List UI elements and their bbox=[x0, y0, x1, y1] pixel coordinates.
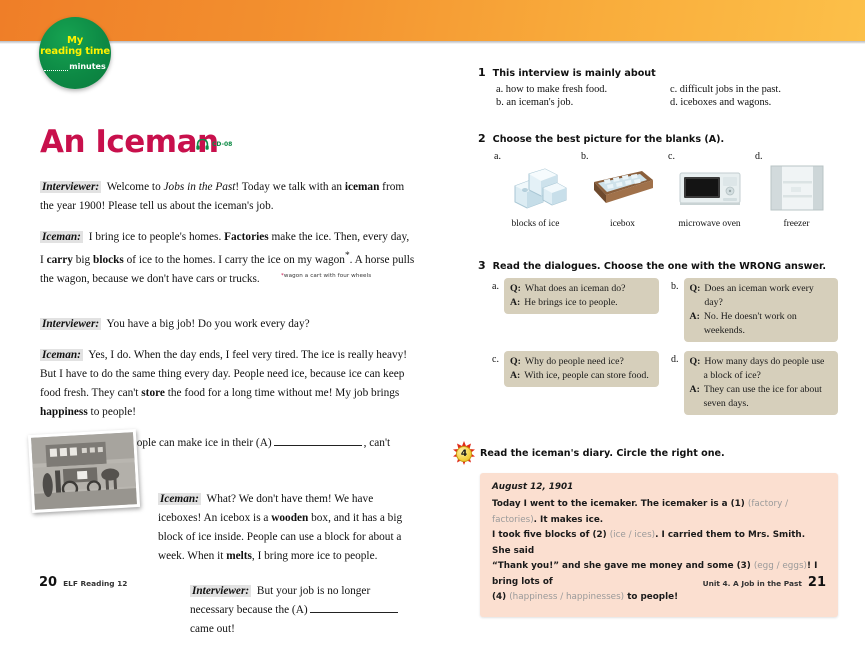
picture-option-a[interactable]: a. blocks of ice bbox=[494, 151, 577, 229]
question-2-picture-options: a. blocks of ice bbox=[494, 151, 838, 229]
dialogue-option-d[interactable]: d. Q: How many days do people use a bloc… bbox=[671, 351, 838, 415]
question-4-prompt: Read the iceman's diary. Circle the righ… bbox=[480, 448, 725, 459]
dialogue-paragraph: Iceman: What? We don't have them! We hav… bbox=[158, 490, 415, 566]
header-orange-band bbox=[0, 0, 865, 41]
question-3-header: 3 Read the dialogues. Choose the one wit… bbox=[478, 259, 838, 272]
a-tag: A: bbox=[690, 383, 700, 397]
reading-time-badge: My reading time minutes bbox=[39, 17, 111, 89]
dialogue-question-line: Q: What does an iceman do? bbox=[510, 282, 653, 296]
footnote-text: wagon a cart with four wheels bbox=[284, 273, 371, 279]
question-1: 1 This interview is mainly about a. how … bbox=[478, 66, 838, 108]
picture-letter-a: a. bbox=[494, 151, 577, 162]
question-1-options: a. how to make fresh food. c. difficult … bbox=[496, 84, 838, 108]
minutes-write-in-line[interactable] bbox=[44, 64, 68, 71]
icebox-icon bbox=[581, 164, 664, 212]
picture-letter-d: d. bbox=[755, 151, 838, 162]
badge-minutes-row: minutes bbox=[44, 62, 105, 71]
question-4-header: 4 Read the iceman's diary. Circle the ri… bbox=[452, 441, 838, 465]
diary-text: “Thank you!” and she gave me money and s… bbox=[492, 561, 754, 571]
dialogue-paragraph: Interviewer: Welcome to Jobs in the Past… bbox=[40, 178, 415, 216]
dialogue-answer-line: A: He brings ice to people. bbox=[510, 296, 653, 310]
badge-title: My reading time bbox=[40, 35, 110, 57]
question-1-prompt: This interview is mainly about bbox=[493, 68, 656, 79]
question-4-number: 4 bbox=[456, 446, 472, 462]
iceman-diary: August 12, 1901 Today I went to the icem… bbox=[480, 473, 838, 617]
question-3: 3 Read the dialogues. Choose the one wit… bbox=[478, 259, 838, 415]
option-c[interactable]: c. difficult jobs in the past. bbox=[670, 84, 838, 95]
a-text: They can use the ice for about bbox=[704, 383, 822, 397]
speaker-label: Interviewer: bbox=[190, 585, 251, 597]
dialogue-letter-b: b. bbox=[671, 278, 679, 292]
badge-line-2: reading time bbox=[40, 46, 110, 57]
picture-letter-b: b. bbox=[581, 151, 664, 162]
question-1-header: 1 This interview is mainly about bbox=[478, 66, 838, 79]
a-tag: A: bbox=[690, 310, 700, 338]
footer-right: Unit 4. A Job in the Past 21 bbox=[703, 575, 826, 590]
question-2-header: 2 Choose the best picture for the blanks… bbox=[478, 132, 838, 145]
dialogue-option-b[interactable]: b. Q: Does an iceman work every day? A: … bbox=[671, 278, 838, 342]
answer-blank-a1[interactable] bbox=[274, 445, 362, 446]
a-tag: A: bbox=[510, 369, 520, 383]
diary-text: . It makes ice. bbox=[534, 515, 603, 525]
diary-text: (4) bbox=[492, 592, 509, 602]
horse-drawn-ice-wagon-image bbox=[31, 432, 137, 510]
header-divider-rule bbox=[0, 41, 865, 44]
q-text: Why do people need ice? bbox=[525, 355, 624, 369]
dialogue-question-line: Q: How many days do people use bbox=[690, 355, 833, 369]
dialogue-box-a[interactable]: Q: What does an iceman do? A: He brings … bbox=[504, 278, 659, 314]
article-title: An Iceman bbox=[40, 124, 219, 160]
dialogue-answer-line: A: No. He doesn't work on weekends. bbox=[690, 310, 833, 338]
dialogue-option-c[interactable]: c. Q: Why do people need ice? A: With ic… bbox=[492, 351, 659, 415]
dialogue-box-d[interactable]: Q: How many days do people use a block o… bbox=[684, 351, 839, 415]
a-text: With ice, people can store food. bbox=[524, 369, 648, 383]
q-tag: Q: bbox=[510, 282, 521, 296]
diary-text: I took five blocks of (2) bbox=[492, 530, 610, 540]
option-a[interactable]: a. how to make fresh food. bbox=[496, 84, 664, 95]
q-tag: Q: bbox=[510, 355, 521, 369]
picture-caption-a: blocks of ice bbox=[494, 219, 577, 229]
speaker-label: Iceman: bbox=[40, 349, 83, 361]
picture-caption-b: icebox bbox=[581, 219, 664, 229]
speaker-label: Interviewer: bbox=[40, 318, 101, 330]
question-3-number: 3 bbox=[478, 259, 486, 272]
diary-date: August 12, 1901 bbox=[492, 482, 826, 492]
option-d[interactable]: d. iceboxes and wagons. bbox=[670, 97, 838, 108]
picture-option-d[interactable]: d. freezer bbox=[755, 151, 838, 229]
q-tag: Q: bbox=[690, 355, 701, 369]
dialogue-paragraph: Interviewer: You have a big job! Do you … bbox=[40, 315, 415, 334]
microwave-oven-icon bbox=[668, 164, 751, 212]
minutes-label: minutes bbox=[69, 62, 105, 71]
question-2-prompt: Choose the best picture for the blanks (… bbox=[493, 134, 725, 145]
page-number-right: 21 bbox=[808, 575, 826, 590]
a-text: He brings ice to people. bbox=[524, 296, 617, 310]
dialogue-letter-d: d. bbox=[671, 351, 679, 365]
diary-text: to people! bbox=[624, 592, 678, 602]
option-b[interactable]: b. an iceman's job. bbox=[496, 97, 664, 108]
speaker-label: Interviewer: bbox=[40, 181, 101, 193]
picture-option-c[interactable]: c. microwave oven bbox=[668, 151, 751, 229]
freezer-icon bbox=[755, 164, 838, 212]
dialogue-question-line: Q: Does an iceman work every day? bbox=[690, 282, 833, 310]
dialogue-paragraph: Iceman: I bring ice to people's homes. F… bbox=[40, 228, 415, 289]
audio-track-label: CD-08 bbox=[212, 141, 232, 148]
question-2: 2 Choose the best picture for the blanks… bbox=[478, 132, 838, 229]
question-3-prompt: Read the dialogues. Choose the one with … bbox=[493, 261, 826, 272]
question-4: 4 Read the iceman's diary. Circle the ri… bbox=[452, 441, 838, 617]
dialogue-answer-line: A: They can use the ice for about bbox=[690, 383, 833, 397]
diary-choice-2[interactable]: (ice / ices) bbox=[610, 530, 655, 540]
diary-line: (4) (happiness / happinesses) to people! bbox=[492, 590, 826, 606]
dialogue-box-c[interactable]: Q: Why do people need ice? A: With ice, … bbox=[504, 351, 659, 387]
dialogue-letter-a: a. bbox=[492, 278, 499, 292]
dialogue-question-line: Q: Why do people need ice? bbox=[510, 355, 653, 369]
diary-text: Today I went to the icemaker. The icemak… bbox=[492, 499, 748, 509]
q-text-continued: a block of ice? bbox=[690, 369, 833, 383]
dialogue-box-b[interactable]: Q: Does an iceman work every day? A: No.… bbox=[684, 278, 839, 342]
picture-caption-d: freezer bbox=[755, 219, 838, 229]
dialogue-paragraph: Iceman: Yes, I do. When the day ends, I … bbox=[40, 346, 415, 422]
diary-line: I took five blocks of (2) (ice / ices). … bbox=[492, 528, 826, 559]
question-3-dialogues: a. Q: What does an iceman do? A: He brin… bbox=[492, 278, 838, 415]
q-text: What does an iceman do? bbox=[525, 282, 626, 296]
picture-letter-c: c. bbox=[668, 151, 751, 162]
a-text-continued: seven days. bbox=[690, 397, 833, 411]
dialogue-letter-c: c. bbox=[492, 351, 499, 365]
q-text: How many days do people use bbox=[704, 355, 824, 369]
speaker-label: Iceman: bbox=[158, 493, 201, 505]
speaker-label: Iceman: bbox=[40, 231, 83, 243]
dialogue-answer-line: A: With ice, people can store food. bbox=[510, 369, 653, 383]
question-1-number: 1 bbox=[478, 66, 486, 79]
diary-line: Today I went to the icemaker. The icemak… bbox=[492, 497, 826, 528]
audio-track-tag: CD-08 bbox=[196, 139, 232, 150]
jump-badge: 4 bbox=[452, 441, 476, 465]
exercises-column: 1 This interview is mainly about a. how … bbox=[478, 66, 838, 635]
photo-image bbox=[31, 432, 137, 510]
ice-wagon-photo bbox=[28, 429, 140, 513]
dialogue-paragraph-blank-a: Interviewer: But your job is no longer n… bbox=[190, 582, 415, 639]
footer-left: 20 ELF Reading 12 bbox=[39, 575, 127, 590]
ice-cubes-icon bbox=[494, 164, 577, 212]
badge-line-1: My bbox=[40, 35, 110, 46]
q-tag: Q: bbox=[690, 282, 701, 310]
diary-choice-4[interactable]: (happiness / happinesses) bbox=[509, 592, 624, 602]
a-tag: A: bbox=[510, 296, 520, 310]
a-text: No. He doesn't work on weekends. bbox=[704, 310, 832, 338]
headphones-icon bbox=[196, 139, 209, 150]
diary-choice-3[interactable]: (egg / eggs) bbox=[754, 561, 807, 571]
book-title-footer: ELF Reading 12 bbox=[63, 579, 127, 588]
unit-title-footer: Unit 4. A Job in the Past bbox=[703, 579, 802, 588]
page-number-left: 20 bbox=[39, 575, 57, 590]
q-text: Does an iceman work every day? bbox=[704, 282, 832, 310]
picture-option-b[interactable]: b. bbox=[581, 151, 664, 229]
wagon-footnote: *wagon a cart with four wheels bbox=[281, 273, 371, 279]
picture-caption-c: microwave oven bbox=[668, 219, 751, 229]
dialogue-option-a[interactable]: a. Q: What does an iceman do? A: He brin… bbox=[492, 278, 659, 342]
question-2-number: 2 bbox=[478, 132, 486, 145]
